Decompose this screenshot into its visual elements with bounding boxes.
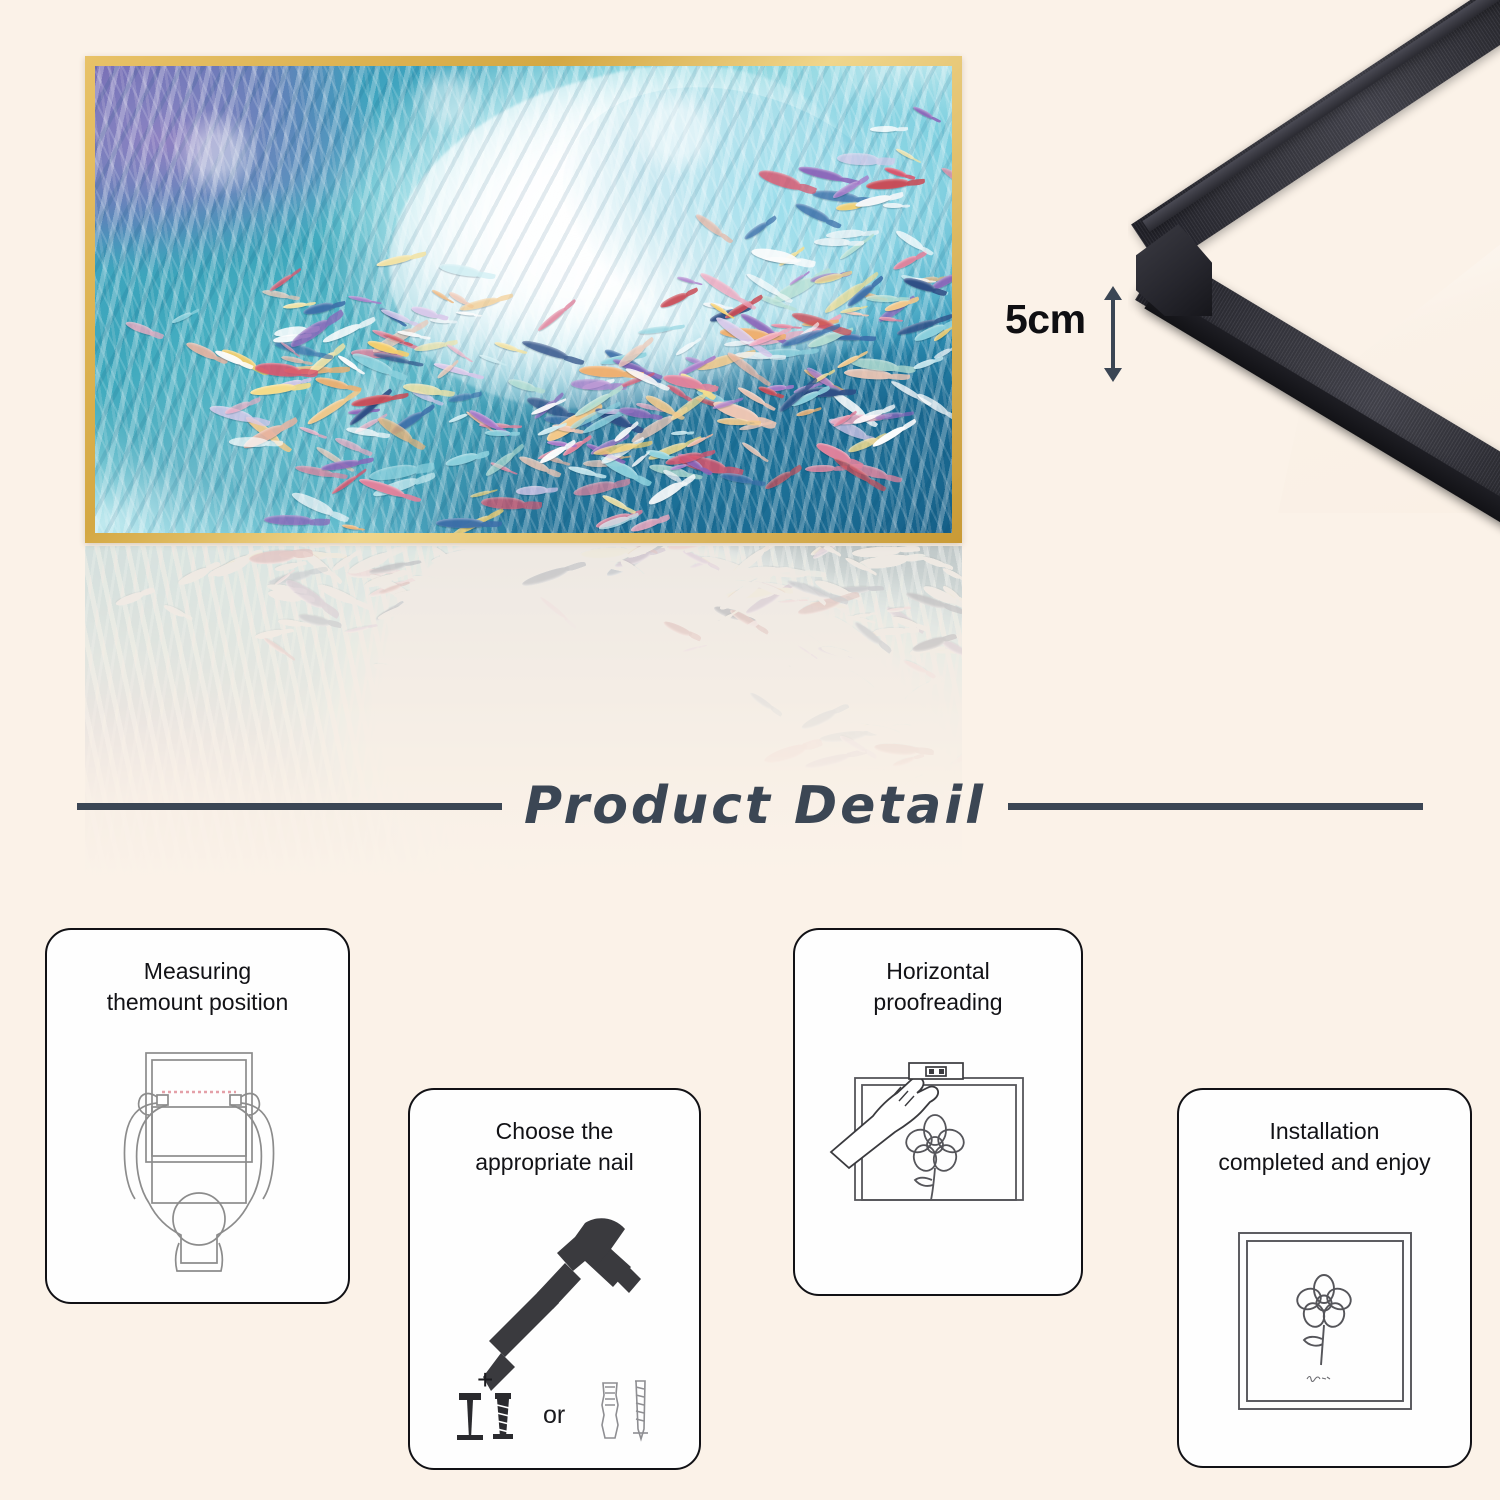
painting-gold-frame (85, 56, 962, 543)
painting-canvas (95, 66, 952, 533)
step-card-art (795, 1017, 1081, 1294)
page-title: Product Detail (524, 776, 986, 836)
heading-rule-right (1008, 803, 1423, 810)
frame-depth-label: 5cm (1005, 296, 1086, 343)
black-wood-frame-corner (1128, 0, 1500, 608)
hung-framed-flower-icon (1231, 1227, 1419, 1417)
step-card-nail[interactable]: Choose the appropriate nail + (408, 1088, 701, 1470)
step-card-art: + or (410, 1177, 699, 1468)
step-card-art (1179, 1177, 1470, 1466)
step-card-title: Choose the appropriate nail (459, 1090, 650, 1177)
step-card-proofreading[interactable]: Horizontal proofreading (793, 928, 1083, 1296)
hammer-nail-icon: + or (435, 1205, 675, 1440)
step-card-completed[interactable]: Installation completed and enjoy (1177, 1088, 1472, 1468)
heading-rule-left (77, 803, 502, 810)
section-heading: Product Detail (0, 770, 1500, 842)
frame-rail-top (1131, 0, 1500, 270)
person-holding-frame-measure-icon (83, 1047, 313, 1272)
or-label: or (543, 1401, 565, 1429)
hero-product-image: 5cm (0, 0, 1500, 900)
step-card-title: Measuring themount position (91, 930, 305, 1017)
hand-spirit-level-frame-icon (831, 1056, 1046, 1256)
step-card-title: Installation completed and enjoy (1202, 1090, 1446, 1177)
fish (870, 126, 898, 132)
step-card-title: Horizontal proofreading (857, 930, 1018, 1017)
frame-rail-top-inner-lip (1142, 0, 1500, 232)
double-arrow-vertical-icon (1100, 286, 1126, 382)
plus-symbol: + (477, 1364, 493, 1395)
step-card-art (47, 1017, 348, 1302)
step-card-measuring[interactable]: Measuring themount position (45, 928, 350, 1304)
